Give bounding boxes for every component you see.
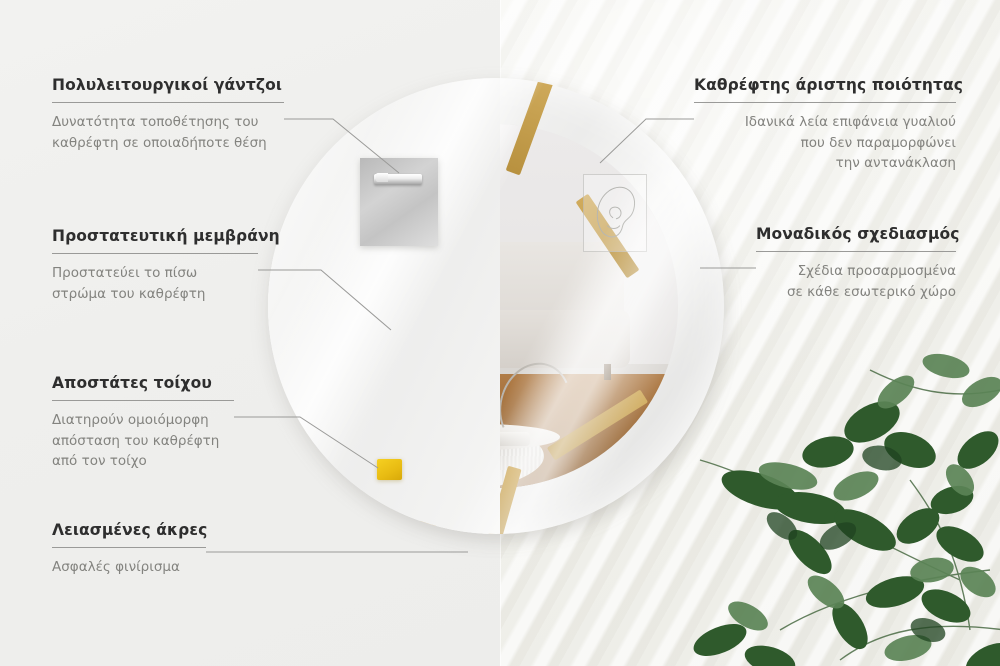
- callout-title: Καθρέφτης άριστης ποιότητας: [694, 76, 956, 95]
- callout-rule: [756, 251, 956, 252]
- callout-description: Προστατεύει το πίσω στρώμα του καθρέφτη: [52, 263, 258, 305]
- round-mirror: [268, 78, 724, 536]
- callout-title: Λειασμένες άκρες: [52, 521, 206, 540]
- callout-unique-design: Μοναδικός σχεδιασμός Σχέδια προσαρμοσμέν…: [756, 225, 956, 302]
- callout-description: Σχέδια προσαρμοσμένα σε κάθε εσωτερικό χ…: [756, 261, 956, 303]
- callout-quality-mirror: Καθρέφτης άριστης ποιότητας Ιδανικά λεία…: [694, 76, 956, 174]
- callout-hooks: Πολυλειτουργικοί γάντζοι Δυνατότητα τοπο…: [52, 76, 284, 153]
- callout-rule: [52, 102, 284, 103]
- callout-title: Μοναδικός σχεδιασμός: [756, 225, 956, 244]
- callout-rule: [694, 102, 956, 103]
- callout-description: Δυνατότητα τοποθέτησης του καθρέφτη σε ο…: [52, 112, 284, 154]
- callout-rule: [52, 253, 258, 254]
- hook-tab-icon: [376, 173, 388, 182]
- callout-title: Αποστάτες τοίχου: [52, 374, 234, 393]
- callout-rule: [52, 547, 206, 548]
- callout-description: Ιδανικά λεία επιφάνεια γυαλιού που δεν π…: [694, 112, 956, 175]
- callout-description: Ασφαλές φινίρισμα: [52, 557, 206, 578]
- callout-edges: Λειασμένες άκρες Ασφαλές φινίρισμα: [52, 521, 206, 578]
- mounting-hook-panel: [360, 158, 438, 246]
- callout-title: Πολυλειτουργικοί γάντζοι: [52, 76, 284, 95]
- wall-spacer-chip: [377, 459, 402, 480]
- callout-membrane: Προστατευτική μεμβράνη Προστατεύει το πί…: [52, 227, 258, 304]
- reflected-sofa-leg: [604, 364, 611, 380]
- callout-spacers: Αποστάτες τοίχου Διατηρούν ομοιόμορφη απ…: [52, 374, 234, 472]
- callout-rule: [52, 400, 234, 401]
- reflected-line-art-picture: [583, 174, 647, 252]
- infographic-stage: Πολυλειτουργικοί γάντζοι Δυνατότητα τοπο…: [0, 0, 1000, 666]
- reflected-lamp-shade: [496, 432, 530, 446]
- foliage-decoration: [660, 330, 1000, 666]
- callout-description: Διατηρούν ομοιόμορφη απόσταση του καθρέφ…: [52, 410, 234, 473]
- mirror-outer-ring: [268, 78, 724, 534]
- callout-title: Προστατευτική μεμβράνη: [52, 227, 258, 246]
